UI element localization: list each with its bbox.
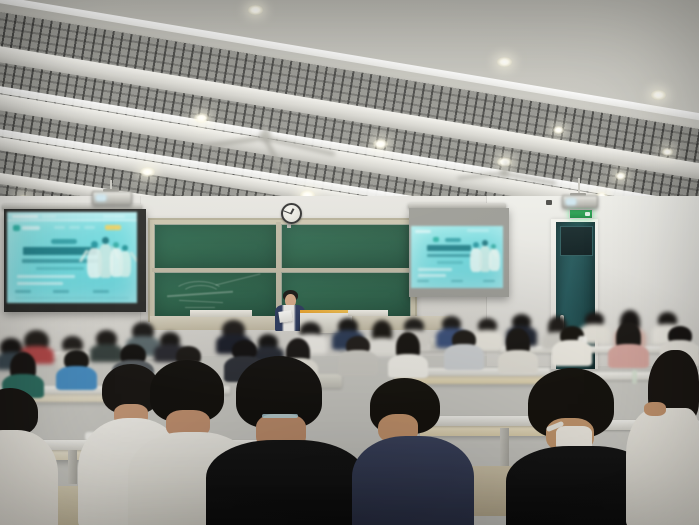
cta-button[interactable] (105, 225, 121, 230)
slide-footer-text (451, 280, 463, 282)
projection-screen-right[interactable] (409, 208, 509, 297)
site-logo (13, 225, 20, 231)
door-window (560, 226, 593, 256)
slide-footer-text (93, 290, 109, 293)
projector-mount (578, 178, 580, 194)
downlight (140, 167, 155, 177)
front-bench (348, 310, 388, 316)
browser-tab-chip (103, 215, 125, 218)
slide-footer-text (417, 280, 429, 282)
downlight (615, 172, 626, 180)
water-bottle (632, 370, 637, 384)
slide-footer-text (15, 290, 31, 293)
lecture-hall-photo (0, 0, 699, 525)
chalkboard-panel (154, 224, 278, 270)
downlight (651, 90, 666, 100)
screen-content-right (411, 226, 503, 288)
presenter-papers (278, 310, 292, 323)
slide-footer-rule (15, 297, 129, 299)
screen-content-left (7, 212, 137, 303)
projection-screen-left[interactable] (4, 209, 146, 312)
slide-eyebrow-badge (445, 238, 461, 242)
slide-bullet (17, 282, 63, 285)
ceiling-projector (562, 195, 598, 208)
site-logo (433, 237, 439, 242)
slide-eyebrow-badge (51, 239, 77, 244)
downlight (553, 126, 564, 134)
downlight (373, 139, 388, 149)
exit-sign (569, 209, 593, 219)
slide-subhead (437, 261, 463, 264)
slide-meta (467, 229, 489, 232)
hand (644, 402, 666, 416)
wall-clock (281, 203, 302, 224)
ceiling (0, 0, 699, 215)
downlight (194, 113, 209, 123)
slide-meta (415, 230, 431, 233)
downlight (662, 148, 673, 156)
nav-item[interactable] (84, 226, 95, 229)
browser-url-chip (12, 215, 38, 218)
slide-subhead (427, 254, 473, 257)
nav-item[interactable] (54, 226, 65, 229)
chalkboard-ledge (152, 268, 409, 272)
ceiling-projector (92, 191, 132, 205)
downlight (248, 5, 263, 15)
browser-tab-chip (42, 215, 56, 218)
slide-headline (427, 245, 471, 251)
nav-item[interactable] (69, 226, 80, 229)
speaker-icon (546, 200, 552, 205)
necklace (262, 414, 298, 418)
slide-bullet (418, 268, 452, 271)
chalkboard-panel (281, 224, 411, 270)
slide-bullet (418, 274, 446, 277)
downlight (497, 57, 512, 67)
site-name (22, 226, 40, 230)
slide-subhead (36, 267, 84, 270)
slide-footer-text (483, 280, 495, 282)
front-bench (190, 310, 252, 317)
slide-bullet (17, 275, 75, 278)
slide-footer-text (53, 290, 69, 293)
